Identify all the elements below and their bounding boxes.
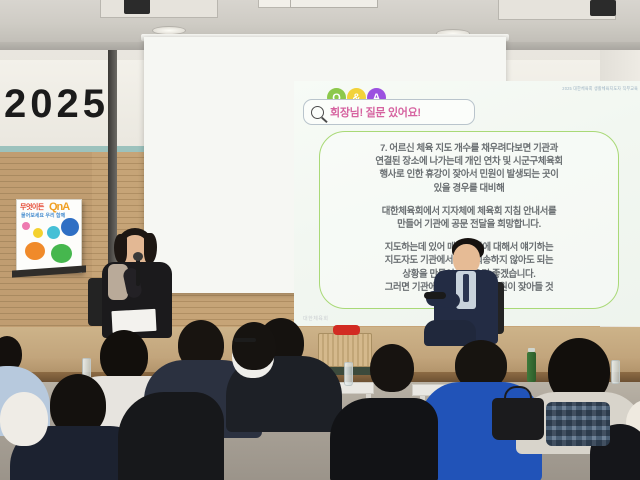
slide-line: 대한체육회에서 지자체에 체육회 지침 안내서를 bbox=[328, 204, 610, 217]
ceiling-panel-left bbox=[100, 0, 218, 18]
poster-blob-orange bbox=[25, 242, 45, 260]
poster-blob-green bbox=[51, 244, 72, 263]
slide-footer-logo: 대한체육회 bbox=[303, 315, 329, 322]
poster-subtitle: 물어보세요 우리 함께 bbox=[21, 212, 65, 219]
ceiling-vent-center bbox=[290, 0, 378, 8]
green-bottle bbox=[527, 352, 536, 382]
banner-year-text: 2025 bbox=[4, 82, 109, 127]
slide-line: 만들어 기관에 공문 전달을 희망합니다. bbox=[328, 217, 610, 230]
slide-line: 있을 경우를 대비해 bbox=[328, 181, 610, 194]
poster-blob-pink bbox=[22, 222, 30, 230]
ceiling-speaker-right bbox=[590, 0, 616, 16]
handbag bbox=[492, 398, 544, 440]
slide-line: 7. 어르신 체육 지도 개수를 채우려다보면 기관과 bbox=[328, 141, 610, 154]
slide-line: 행사로 인한 휴강이 잦아서 민원이 발생되는 곳이 bbox=[328, 167, 610, 180]
poster-blob-cyan bbox=[47, 226, 60, 239]
handbag-handle bbox=[504, 386, 532, 400]
slide-speech-bubble: 회장님! 질문 있어요! bbox=[303, 99, 475, 125]
poster-blob-yellow bbox=[33, 228, 43, 238]
slide-bubble-text: 회장님! 질문 있어요! bbox=[330, 104, 421, 120]
eyeglasses-icon bbox=[234, 338, 256, 342]
papers-left-speaker bbox=[111, 309, 156, 333]
slide-line: 연결된 장소에 나가는데 개인 연차 및 시군구체육회 bbox=[328, 154, 610, 167]
necktie-right-speaker bbox=[463, 274, 469, 302]
poster-title-red: 무엇이든 bbox=[20, 202, 44, 212]
red-object-on-basket bbox=[333, 325, 360, 335]
magnifier-icon bbox=[311, 106, 324, 119]
wall-poster-qna: 무엇이든 QnA 물어보세요 우리 함께 bbox=[16, 199, 82, 273]
green-bottle-cap bbox=[528, 348, 535, 352]
speaker-right-man bbox=[424, 238, 524, 350]
slide-header-caption: 2025 대한체육회 생활체육지도자 직무교육 bbox=[562, 85, 638, 92]
ceiling-speaker-left bbox=[124, 0, 150, 14]
water-bottle-4 bbox=[611, 360, 620, 384]
slide-paragraph-gap bbox=[328, 194, 610, 204]
water-bottle-2 bbox=[344, 362, 353, 386]
poster-blob-blue bbox=[61, 218, 79, 236]
speaker-left-woman bbox=[92, 228, 188, 338]
microphone-right bbox=[424, 292, 446, 299]
conference-room-photo: 2025 교육 무엇이든 QnA 물어보세요 우리 함께 bbox=[0, 0, 640, 480]
